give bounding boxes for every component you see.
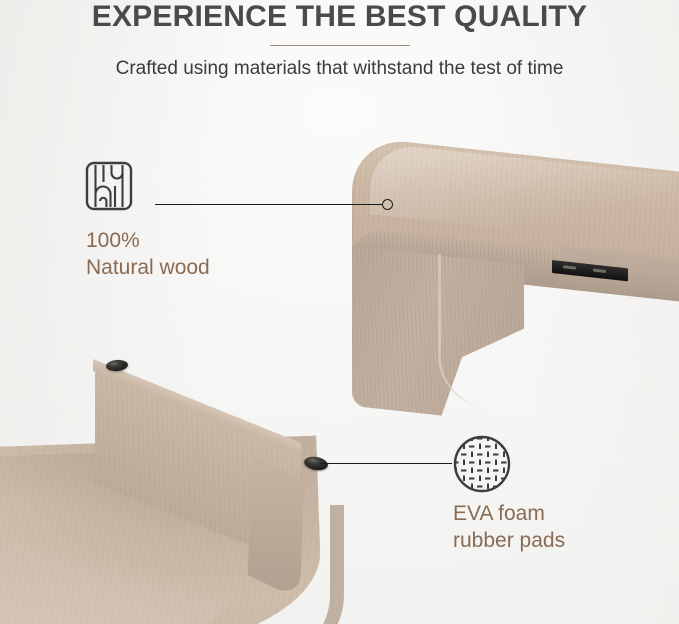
callout-leader-line-natural-wood [155, 204, 383, 205]
callout-label-line2: rubber pads [453, 527, 565, 554]
callout-label-natural-wood: 100% Natural wood [86, 227, 210, 281]
woven-foam-icon [452, 434, 512, 499]
callout-label-line1: 100% [86, 227, 210, 254]
callout-label-eva-foam: EVA foam rubber pads [453, 500, 565, 554]
callout-leader-line-eva-foam [320, 463, 452, 464]
woven-foam-icon-svg [452, 434, 512, 494]
wood-grain-icon [84, 160, 134, 217]
usb-port-icon [593, 269, 606, 273]
wooden-riser-top-view [352, 128, 679, 403]
riser-leg-edge-highlight [438, 254, 515, 410]
wood-grain-icon-svg [84, 160, 134, 212]
callout-endpoint-natural-wood [382, 199, 393, 210]
callout-label-line1: EVA foam [453, 500, 565, 527]
product-stage [0, 0, 679, 624]
wooden-riser-underside-view [0, 355, 360, 624]
infographic-page: EXPERIENCE THE BEST QUALITY Crafted usin… [0, 0, 679, 624]
usb-port-icon [563, 265, 576, 269]
rubber-pad [106, 359, 129, 372]
riser-side-thickness [248, 455, 304, 600]
callout-label-line2: Natural wood [86, 254, 210, 281]
